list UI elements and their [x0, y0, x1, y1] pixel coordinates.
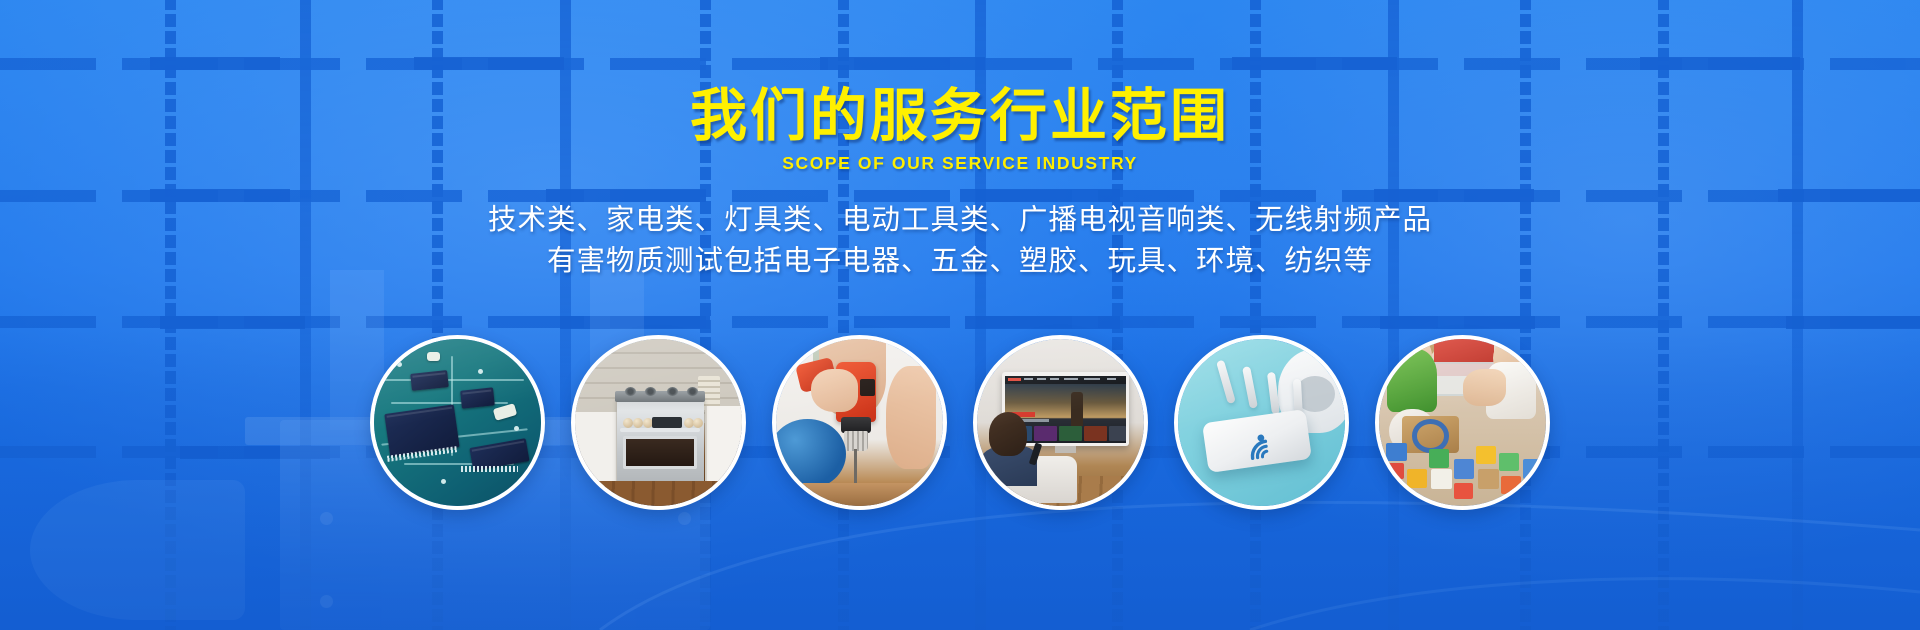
- industry-image-row: [0, 335, 1920, 515]
- service-scope-banner: 我们的服务行业范围 SCOPE OF OUR SERVICE INDUSTRY …: [0, 0, 1920, 630]
- description-line-1: 技术类、家电类、灯具类、电动工具类、广播电视音响类、无线射频产品: [0, 200, 1920, 240]
- banner-content: 我们的服务行业范围 SCOPE OF OUR SERVICE INDUSTRY …: [0, 0, 1920, 281]
- page-title: 我们的服务行业范围: [0, 86, 1920, 146]
- children-toys-image: [1379, 339, 1546, 506]
- description-line-2: 有害物质测试包括电子电器、五金、塑胶、玩具、环境、纺织等: [0, 241, 1920, 281]
- power-tool-image: [776, 339, 943, 506]
- wifi-signal-icon: [1243, 430, 1278, 460]
- industry-circle-home-appliance[interactable]: [571, 335, 746, 510]
- industry-circle-circuit-board[interactable]: [370, 335, 545, 510]
- industry-circle-children-toys[interactable]: [1375, 335, 1550, 510]
- page-subtitle: SCOPE OF OUR SERVICE INDUSTRY: [0, 153, 1920, 174]
- industry-circle-power-tool[interactable]: [772, 335, 947, 510]
- industry-circle-wireless-router[interactable]: [1174, 335, 1349, 510]
- industry-circle-tv-audio[interactable]: [973, 335, 1148, 510]
- wireless-router-image: [1178, 339, 1345, 506]
- tv-audio-image: [977, 339, 1144, 506]
- home-appliance-image: [575, 339, 742, 506]
- service-description: 技术类、家电类、灯具类、电动工具类、广播电视音响类、无线射频产品 有害物质测试包…: [0, 200, 1920, 281]
- circuit-board-image: [374, 339, 541, 506]
